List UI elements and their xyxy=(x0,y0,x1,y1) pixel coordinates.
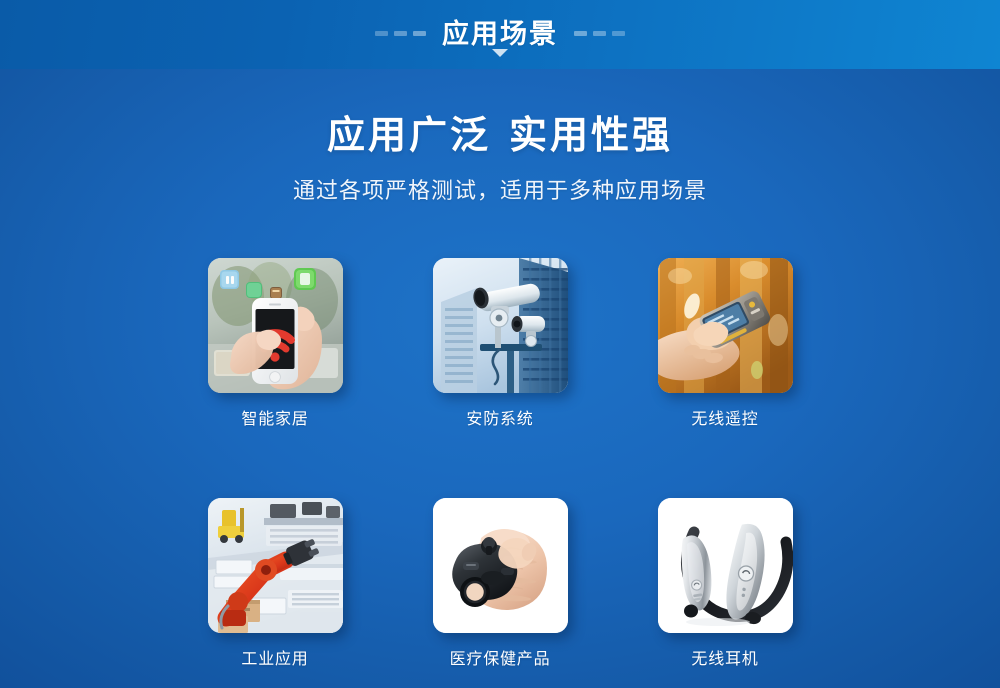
smart-home-phone-wifi-photo[interactable] xyxy=(208,258,343,393)
dash-mark xyxy=(593,31,606,36)
scenario-card-wireless-remote[interactable]: 无线遥控 xyxy=(650,258,800,428)
section-title: 应用场景 xyxy=(442,21,558,48)
scenario-caption: 无线耳机 xyxy=(691,652,758,668)
scenario-card-industrial[interactable]: 工业应用 xyxy=(200,498,350,668)
scene-art xyxy=(433,498,568,633)
scene-art xyxy=(208,498,343,633)
scenario-caption: 医疗保健产品 xyxy=(450,652,551,668)
scene-art xyxy=(433,258,568,393)
wireless-remote-handheld-photo[interactable] xyxy=(658,258,793,393)
header-dashes-right xyxy=(574,31,625,38)
hero-block: 应用广泛实用性强 通过各项严格测试，适用于多种应用场景 xyxy=(0,69,1000,204)
header-dashes-left xyxy=(375,31,426,38)
scenario-card-smart-home[interactable]: 智能家居 xyxy=(200,258,350,428)
scenario-grid: 智能家居 xyxy=(200,258,800,668)
scenario-caption: 无线遥控 xyxy=(691,412,758,428)
wireless-neckband-headset-photo[interactable] xyxy=(658,498,793,633)
scenario-row: 智能家居 xyxy=(200,258,800,428)
dash-mark xyxy=(394,31,407,36)
hero-title: 应用广泛实用性强 xyxy=(0,114,1000,159)
scene-art xyxy=(658,258,793,393)
scene-art xyxy=(208,258,343,393)
security-cctv-camera-photo[interactable] xyxy=(433,258,568,393)
scenario-card-security-system[interactable]: 安防系统 xyxy=(425,258,575,428)
scenario-row: 工业应用 xyxy=(200,498,800,668)
dash-mark xyxy=(375,31,388,36)
application-scenarios-page: 应用场景 应用广泛实用性强 通过各项严格测试，适用于多种应用场景 xyxy=(0,0,1000,688)
hero-subtitle: 通过各项严格测试，适用于多种应用场景 xyxy=(0,178,1000,204)
scenario-caption: 工业应用 xyxy=(241,652,308,668)
scenario-card-wireless-headset[interactable]: 无线耳机 xyxy=(650,498,800,668)
hero-title-part-2: 实用性强 xyxy=(509,115,673,157)
dash-mark xyxy=(612,31,625,36)
healthcare-handheld-controller-photo[interactable] xyxy=(433,498,568,633)
hero-title-part-1: 应用广泛 xyxy=(327,115,491,157)
dash-mark xyxy=(413,31,426,36)
scenario-caption: 智能家居 xyxy=(241,412,308,428)
scenario-caption: 安防系统 xyxy=(466,412,533,428)
section-header-band: 应用场景 xyxy=(0,0,1000,69)
industrial-robot-arm-photo[interactable] xyxy=(208,498,343,633)
scenario-card-healthcare[interactable]: 医疗保健产品 xyxy=(425,498,575,668)
caret-down-icon xyxy=(492,49,508,57)
dash-mark xyxy=(574,31,587,36)
header-content: 应用场景 xyxy=(0,0,1000,69)
scene-art xyxy=(658,498,793,633)
